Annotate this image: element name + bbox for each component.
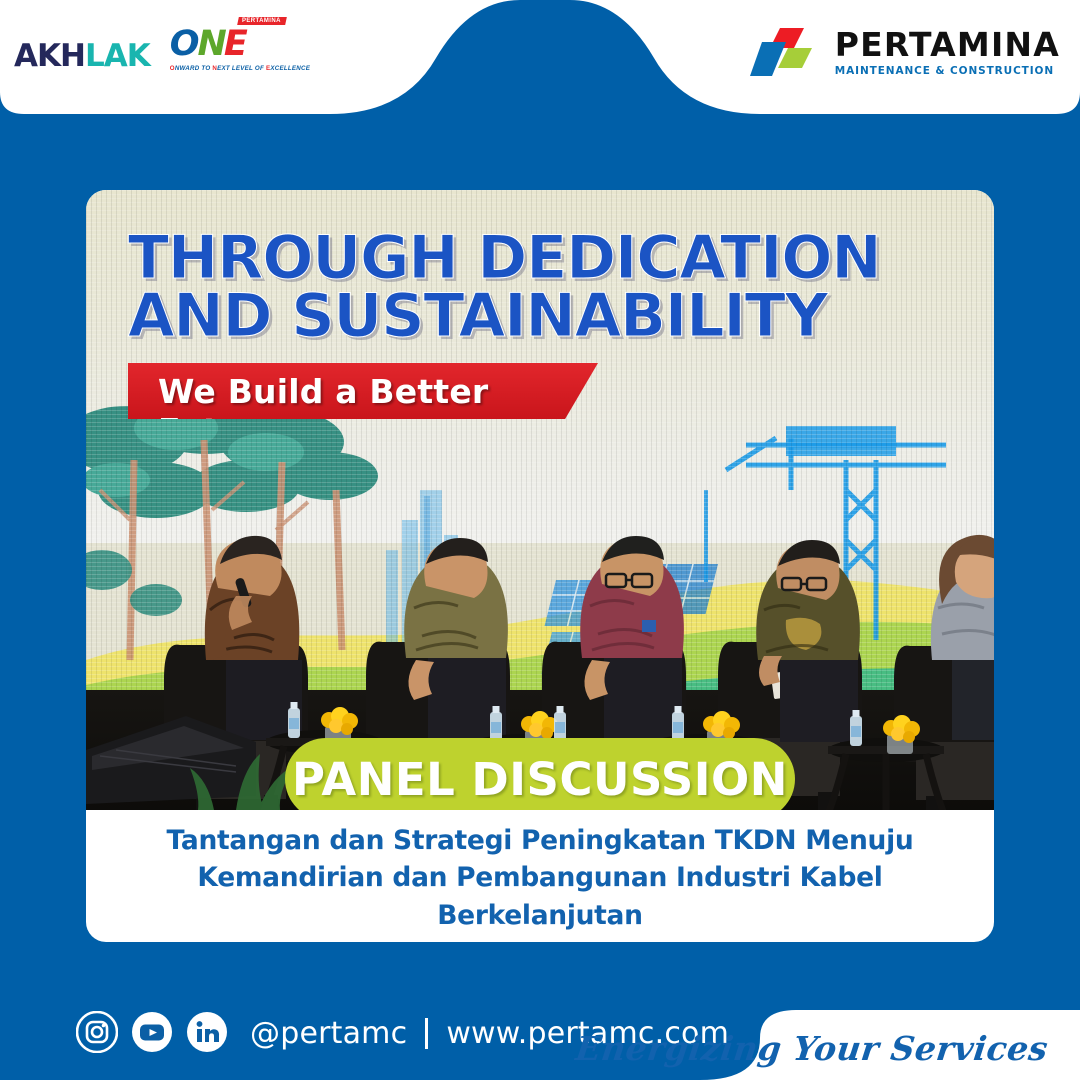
panel-discussion-badge: PANEL DISCUSSION xyxy=(285,738,795,810)
one-logo-wordmark: O N E xyxy=(170,26,288,62)
pertamina-subtitle: MAINTENANCE & CONSTRUCTION xyxy=(835,65,1060,77)
event-caption: Tantangan dan Strategi Peningkatan TKDN … xyxy=(86,814,994,942)
youtube-icon[interactable] xyxy=(131,1011,173,1053)
panel-discussion-label: PANEL DISCUSSION xyxy=(292,753,788,806)
pertamina-arrow-icon xyxy=(750,26,822,78)
event-photo: THROUGH DEDICATION AND SUSTAINABILITY We… xyxy=(86,190,994,810)
pertamina-mc-logo: PERTAMINA MAINTENANCE & CONSTRUCTION xyxy=(750,26,1060,78)
content-card: THROUGH DEDICATION AND SUSTAINABILITY We… xyxy=(86,190,994,942)
pertamina-wordmark: PERTAMINA MAINTENANCE & CONSTRUCTION xyxy=(835,28,1060,77)
caption-line-2: Kemandirian dan Pembangunan Industri Kab… xyxy=(126,859,954,934)
one-letter-o: O xyxy=(170,27,200,62)
footer: @pertamc www.pertamc.com Energizing Your… xyxy=(0,980,1080,1080)
one-logo-badge: PERTAMINA xyxy=(237,17,287,25)
separator xyxy=(425,1018,428,1049)
social-links xyxy=(76,1011,228,1053)
akhlak-logo-part1: AKH xyxy=(14,38,85,74)
social-handle[interactable]: @pertamc xyxy=(250,1016,407,1051)
header: AKHLAK PERTAMINA O N E ONWARD TO NEXT LE… xyxy=(0,0,1080,140)
caption-line-1: Tantangan dan Strategi Peningkatan TKDN … xyxy=(167,822,914,860)
akhlak-logo-part2: LAK xyxy=(85,38,150,74)
partner-logos: AKHLAK PERTAMINA O N E ONWARD TO NEXT LE… xyxy=(14,26,288,72)
pertamina-name: PERTAMINA xyxy=(835,28,1060,61)
one-letter-e: E xyxy=(224,27,248,62)
instagram-icon[interactable] xyxy=(76,1011,118,1053)
akhlak-logo: AKHLAK xyxy=(14,41,150,72)
pertamina-one-logo: PERTAMINA O N E ONWARD TO NEXT LEVEL OF … xyxy=(170,26,288,72)
one-letter-n: N xyxy=(198,27,227,62)
panelists-group xyxy=(86,190,994,810)
linkedin-icon[interactable] xyxy=(186,1011,228,1053)
company-tagline: Energizing Your Services xyxy=(574,1029,1051,1068)
one-logo-tagline: ONWARD TO NEXT LEVEL OF EXCELLENCE xyxy=(170,65,288,72)
